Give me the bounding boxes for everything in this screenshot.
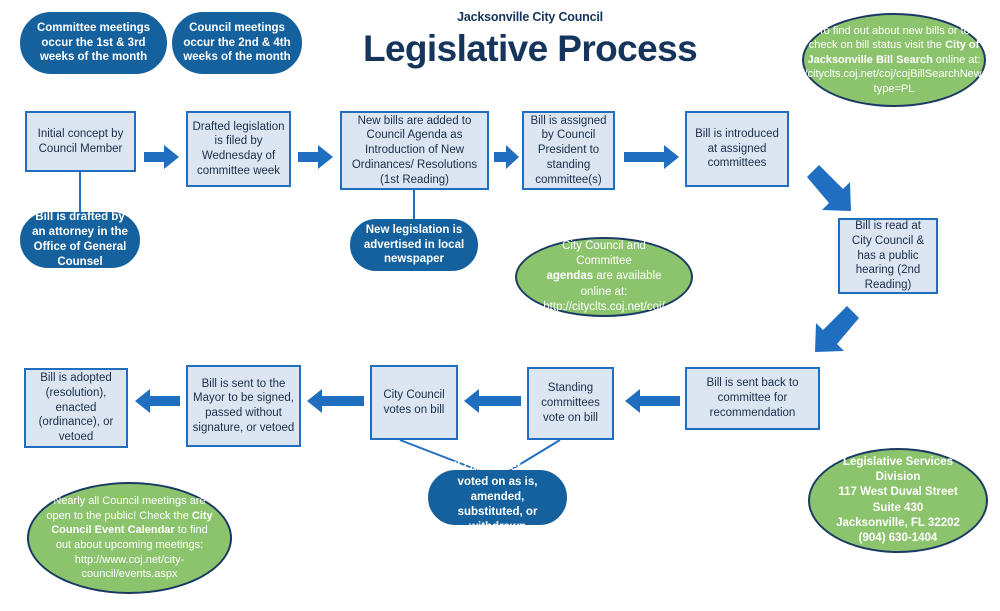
callout-new-legislation-advertised: New legislation is advertised in local n…	[350, 219, 478, 271]
info-note-events-calendar: Nearly all Council meetings are open to …	[27, 482, 232, 594]
process-step-sent-back-to-committee: Bill is sent back to committee for recom…	[685, 367, 820, 430]
events-line3-bold: Council Event Calendar	[51, 524, 174, 536]
events-line2-pre: open to the public! Check the	[46, 510, 192, 522]
process-step-bill-assigned-by-president: Bill is assigned by Council President to…	[522, 111, 615, 190]
lsd-line1: Legislative Services Division	[843, 456, 953, 483]
process-step-bill-read-second-reading: Bill is read at City Council & has a pub…	[838, 218, 938, 294]
process-step-initial-concept: Initial concept by Council Member	[25, 111, 136, 172]
process-step-standing-committees-vote: Standing committees vote on bill	[527, 367, 614, 440]
process-step-drafted-legislation-filed: Drafted legislation is filed by Wednesda…	[186, 111, 291, 187]
lsd-line5: (904) 630-1404	[859, 532, 938, 544]
process-step-sent-to-mayor: Bill is sent to the Mayor to be signed, …	[186, 365, 301, 447]
process-step-bill-introduced-committees: Bill is introduced at assigned committee…	[685, 111, 789, 187]
arrow-left-3	[306, 388, 364, 414]
lsd-line4: Jacksonville, FL 32202	[836, 517, 960, 529]
events-line3-post: to find	[175, 524, 208, 536]
agendas-line2-post: are available online at:	[581, 270, 662, 297]
events-line4: out about upcoming meetings:	[56, 539, 203, 551]
arrow-diagonal-down-right	[805, 165, 861, 221]
legislative-process-diagram: Jacksonville City Council Legislative Pr…	[0, 0, 1000, 611]
process-step-city-council-votes: City Council votes on bill	[370, 365, 458, 440]
process-step-bill-adopted: Bill is adopted (resolution), enacted (o…	[24, 368, 128, 448]
events-line2-bold: City	[192, 510, 213, 522]
info-note-legislative-services: Legislative Services Division 117 West D…	[808, 448, 988, 553]
arrow-left-2	[463, 388, 521, 414]
agendas-url[interactable]: http://cityclts.coj.net/coj/	[543, 301, 664, 313]
agendas-line2-bold: agendas	[546, 270, 593, 282]
callout-bill-can-be-deferred: Bill can be deferred, voted on as is, am…	[428, 470, 567, 525]
arrow-diagonal-down-left	[805, 306, 861, 362]
arrow-right-2	[298, 144, 334, 170]
arrow-right-4	[624, 144, 680, 170]
arrow-left-1	[624, 388, 680, 414]
arrow-right-1	[144, 144, 180, 170]
events-url[interactable]: http://www.coj.net/city-council/events.a…	[75, 554, 184, 581]
process-step-new-bills-council-agenda: New bills are added to Council Agenda as…	[340, 111, 489, 190]
arrow-left-4	[134, 388, 180, 414]
callout-bill-drafted-by-attorney: Bill is drafted by an attorney in the Of…	[20, 212, 140, 268]
events-line1: Nearly all Council meetings are	[53, 495, 205, 507]
arrow-right-3	[494, 144, 520, 170]
lsd-line3: Suite 430	[873, 502, 924, 514]
lsd-line2: 117 West Duval Street	[838, 486, 957, 498]
info-note-agendas: City Council and Committee agendas are a…	[515, 237, 693, 317]
agendas-line1: City Council and Committee	[562, 240, 646, 267]
